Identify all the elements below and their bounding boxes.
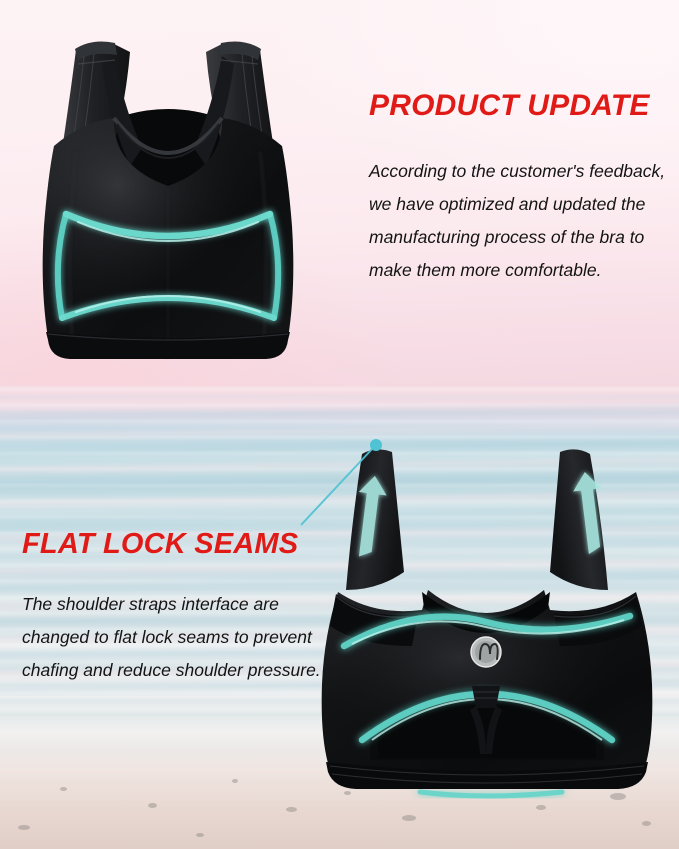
flat-lock-seams-heading: FLAT LOCK SEAMS (22, 528, 298, 561)
sports-bra-inside-view (300, 440, 672, 808)
circular-monogram-medallion (471, 637, 501, 667)
flat-lock-seams-body: The shoulder straps interface are change… (22, 588, 327, 687)
sports-bra-front-view (18, 26, 318, 372)
product-marketing-poster: PRODUCT UPDATE According to the customer… (0, 0, 679, 849)
product-update-body: According to the customer's feedback, we… (369, 155, 669, 287)
product-update-heading: PRODUCT UPDATE (369, 89, 650, 123)
